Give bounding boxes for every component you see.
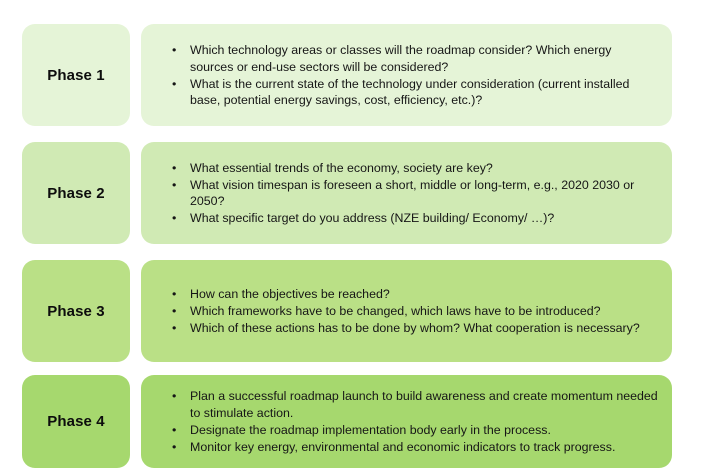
list-item: •How can the objectives be reached? <box>155 286 658 302</box>
list-item: •What vision timespan is foreseen a shor… <box>155 177 658 210</box>
list-item: •What is the current state of the techno… <box>155 76 658 109</box>
list-item: •Designate the roadmap implementation bo… <box>155 422 658 438</box>
bullet-dot-icon: • <box>172 303 176 319</box>
bullet-dot-icon: • <box>172 42 176 58</box>
phase-label-text: Phase 4 <box>47 413 104 430</box>
bullet-dot-icon: • <box>172 388 176 404</box>
list-item: •Monitor key energy, environmental and e… <box>155 439 658 455</box>
phase-row: Phase 2 •What essential trends of the ec… <box>0 142 715 244</box>
list-item-text: What essential trends of the economy, so… <box>190 161 493 175</box>
bullet-dot-icon: • <box>172 76 176 92</box>
list-item-text: Monitor key energy, environmental and ec… <box>190 440 615 454</box>
phase-label-text: Phase 3 <box>47 303 104 320</box>
phase-content-box-4: •Plan a successful roadmap launch to bui… <box>141 375 672 468</box>
list-item-text: Plan a successful roadmap launch to buil… <box>190 389 658 419</box>
bullet-list: •Which technology areas or classes will … <box>155 42 658 109</box>
list-item: •What specific target do you address (NZ… <box>155 210 658 226</box>
bullet-dot-icon: • <box>172 286 176 302</box>
phase-label-box-4: Phase 4 <box>22 375 130 468</box>
phase-label-box-2: Phase 2 <box>22 142 130 244</box>
bullet-dot-icon: • <box>172 210 176 226</box>
roadmap-diagram: Phase 1 •Which technology areas or class… <box>0 0 715 476</box>
phase-content-box-2: •What essential trends of the economy, s… <box>141 142 672 244</box>
phase-label-box-3: Phase 3 <box>22 260 130 362</box>
bullet-dot-icon: • <box>172 422 176 438</box>
phase-label-box-1: Phase 1 <box>22 24 130 126</box>
list-item-text: Designate the roadmap implementation bod… <box>190 423 551 437</box>
phase-content-box-1: •Which technology areas or classes will … <box>141 24 672 126</box>
phase-row: Phase 3 •How can the objectives be reach… <box>0 260 715 362</box>
list-item-text: What is the current state of the technol… <box>190 77 629 107</box>
list-item-text: Which of these actions has to be done by… <box>190 321 640 335</box>
phase-label-text: Phase 1 <box>47 67 104 84</box>
list-item-text: What vision timespan is foreseen a short… <box>190 178 634 208</box>
list-item-text: What specific target do you address (NZE… <box>190 211 554 225</box>
bullet-dot-icon: • <box>172 439 176 455</box>
phase-label-text: Phase 2 <box>47 185 104 202</box>
bullet-dot-icon: • <box>172 177 176 193</box>
phase-content-box-3: •How can the objectives be reached? •Whi… <box>141 260 672 362</box>
list-item: •Which frameworks have to be changed, wh… <box>155 303 658 319</box>
list-item-text: Which technology areas or classes will t… <box>190 43 611 73</box>
list-item: •Plan a successful roadmap launch to bui… <box>155 388 658 421</box>
bullet-list: •How can the objectives be reached? •Whi… <box>155 286 658 337</box>
list-item: •Which technology areas or classes will … <box>155 42 658 75</box>
bullet-list: •Plan a successful roadmap launch to bui… <box>155 388 658 455</box>
phase-row: Phase 4 •Plan a successful roadmap launc… <box>0 375 715 468</box>
phase-row: Phase 1 •Which technology areas or class… <box>0 24 715 126</box>
list-item: •What essential trends of the economy, s… <box>155 160 658 176</box>
bullet-dot-icon: • <box>172 320 176 336</box>
list-item-text: Which frameworks have to be changed, whi… <box>190 304 601 318</box>
list-item-text: How can the objectives be reached? <box>190 287 390 301</box>
bullet-list: •What essential trends of the economy, s… <box>155 160 658 227</box>
list-item: •Which of these actions has to be done b… <box>155 320 658 336</box>
bullet-dot-icon: • <box>172 160 176 176</box>
